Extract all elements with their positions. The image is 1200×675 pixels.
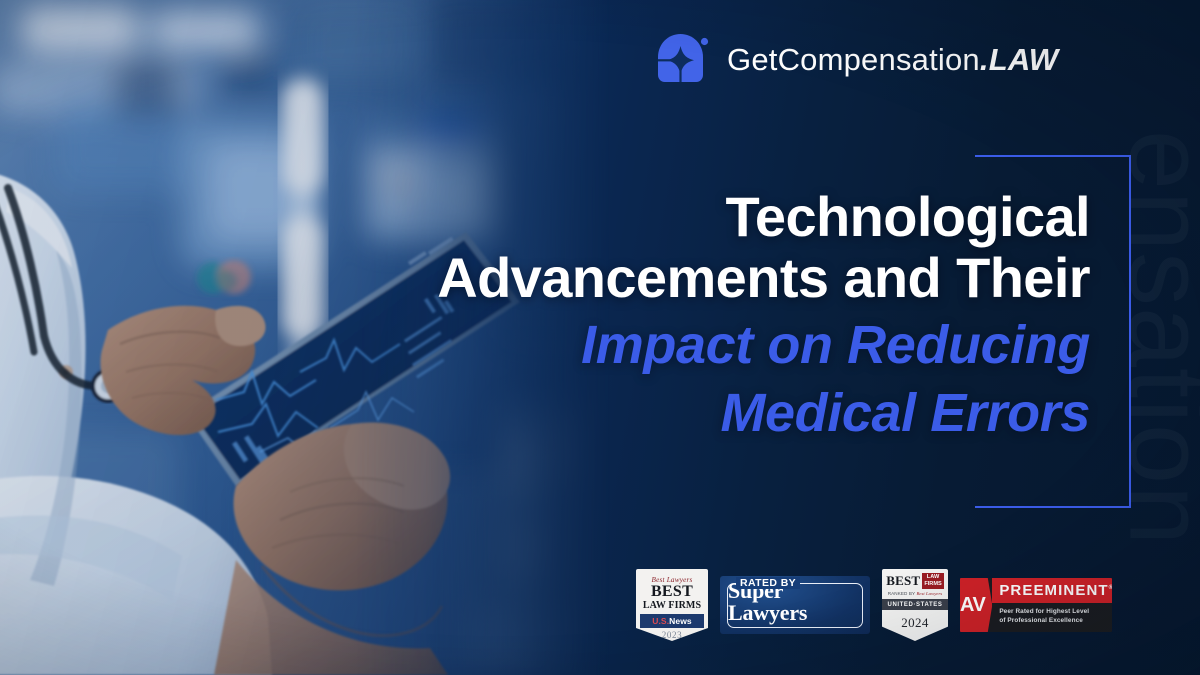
badge-tag-line-1: LAW (927, 574, 939, 580)
badge-subtitle: LAW FIRMS (643, 600, 701, 611)
badge-year: 2023 (662, 630, 682, 640)
badge-title: BEST (886, 573, 920, 589)
badge-av-preeminent[interactable]: AV PREEMINENT® Peer Rated for Highest Le… (960, 578, 1112, 632)
award-badge-strip: Best Lawyers BEST LAW FIRMS U.S.News 202… (636, 569, 1112, 641)
badge-year: 2024 (901, 615, 929, 631)
brand-name-accent: .LAW (980, 42, 1058, 77)
arch-star-logo-icon (655, 32, 709, 88)
headline-block: Technological Advancements and Their Imp… (330, 186, 1090, 444)
badge-av-initials: AV (960, 594, 992, 617)
badge-best-law-firms-usnews[interactable]: Best Lawyers BEST LAW FIRMS U.S.News 202… (636, 569, 708, 641)
brand-logo[interactable]: GetCompensation.LAW (655, 32, 1058, 88)
badge-tag-line-2: FIRMS (924, 581, 941, 587)
badge-usnews-suffix: News (669, 616, 692, 626)
headline-line-4: Medical Errors (330, 383, 1090, 444)
badge-tagline-line-2: of Professional Excellence (999, 617, 1083, 624)
headline-line-1: Technological (330, 186, 1090, 247)
badge-title: BEST (651, 584, 693, 600)
headline-line-2: Advancements and Their (330, 247, 1090, 308)
badge-super-lawyers[interactable]: RATED BY Super Lawyers (720, 576, 870, 634)
badge-av-hex-mark: AV (960, 578, 992, 632)
badge-title-text: PREEMINENT (999, 582, 1108, 599)
badge-ranked-by: RANKED BY Best Lawyers (888, 591, 943, 596)
headline-line-3: Impact on Reducing (330, 315, 1090, 376)
badge-ranked-by-label: RANKED BY (888, 591, 915, 596)
badge-usnews-prefix: U.S. (652, 616, 669, 626)
brand-wordmark: GetCompensation.LAW (727, 42, 1058, 78)
article-banner: ensation (0, 0, 1200, 675)
badge-best-law-firms-2024[interactable]: BEST LAW FIRMS RANKED BY Best Lawyers UN… (882, 569, 948, 641)
badge-tagline: Peer Rated for Highest Level of Professi… (992, 603, 1112, 625)
badge-eyebrow: RATED BY (736, 577, 800, 589)
badge-tagline-line-1: Peer Rated for Highest Level (999, 608, 1089, 615)
badge-usnews-band: U.S.News (640, 614, 704, 628)
badge-ranked-source: Best Lawyers (916, 591, 942, 596)
brand-name-primary: GetCompensation (727, 42, 980, 77)
badge-title: PREEMINENT® (992, 578, 1112, 603)
badge-registered-mark: ® (1109, 585, 1112, 591)
badge-lawfirms-tag: LAW FIRMS (922, 573, 943, 588)
badge-region: UNITED·STATES (882, 599, 948, 610)
